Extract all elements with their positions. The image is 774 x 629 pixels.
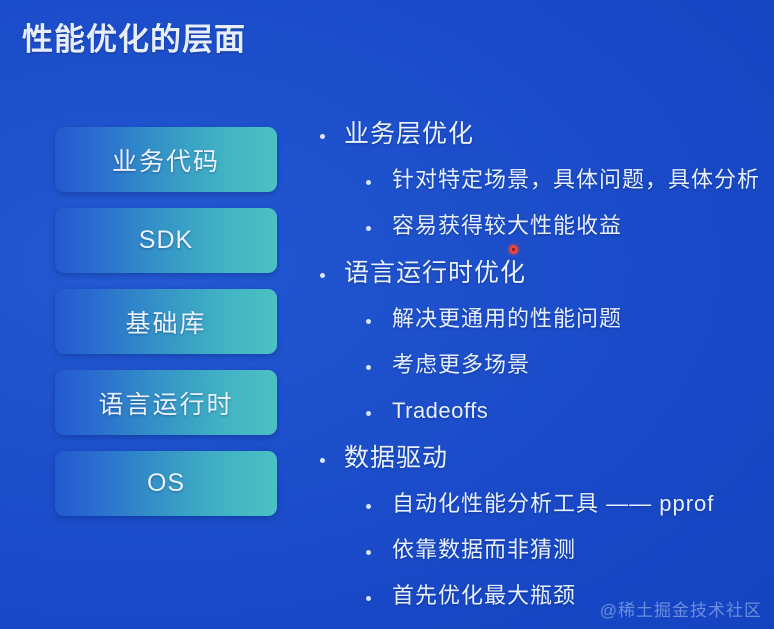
bullet-group: 语言运行时优化解决更通用的性能问题考虑更多场景Tradeoffs (316, 257, 774, 442)
bullet-level1: 业务层优化 (316, 118, 774, 165)
bullet-dot-icon (366, 596, 371, 601)
bullet-level2-label: Tradeoffs (392, 396, 488, 426)
bullet-dot-icon (366, 365, 371, 370)
layer-pill[interactable]: 业务代码 (55, 127, 277, 192)
bullet-level2: 容易获得较大性能收益 (316, 211, 774, 257)
layer-pill-label: 语言运行时 (98, 385, 233, 421)
layer-pill-label: 业务代码 (112, 142, 220, 178)
cursor-pointer (509, 245, 518, 254)
bullet-level2: 自动化性能分析工具 —— pprof (316, 489, 774, 535)
bullet-dot-icon (366, 226, 371, 231)
bullet-level2-label: 容易获得较大性能收益 (392, 211, 622, 241)
bullet-level2-label: 考虑更多场景 (392, 350, 530, 380)
bullet-level1: 数据驱动 (316, 442, 774, 489)
content-outline: 业务层优化针对特定场景，具体问题，具体分析容易获得较大性能收益语言运行时优化解决… (316, 118, 774, 629)
bullet-dot-icon (366, 550, 371, 555)
watermark: @稀土掘金技术社区 (600, 596, 762, 621)
bullet-group: 业务层优化针对特定场景，具体问题，具体分析容易获得较大性能收益 (316, 118, 774, 257)
bullet-level2: 依靠数据而非猜测 (316, 535, 774, 581)
page-title: 性能优化的层面 (22, 14, 246, 59)
bullet-dot-icon (366, 319, 371, 324)
bullet-level1-label: 数据驱动 (344, 442, 448, 474)
bullet-level2: 考虑更多场景 (316, 350, 774, 396)
bullet-level2: 解决更通用的性能问题 (316, 304, 774, 350)
bullet-level2-label: 自动化性能分析工具 —— pprof (392, 489, 714, 519)
bullet-level2-label: 首先优化最大瓶颈 (392, 581, 576, 611)
slide-canvas: 性能优化的层面 业务代码SDK基础库语言运行时OS 业务层优化针对特定场景，具体… (0, 0, 774, 629)
layer-pill-label: 基础库 (125, 304, 206, 340)
layer-pill[interactable]: SDK (55, 208, 277, 273)
bullet-level2-label: 依靠数据而非猜测 (392, 535, 576, 565)
bullet-level1-label: 语言运行时优化 (344, 257, 526, 289)
bullet-dot-icon (366, 180, 371, 185)
bullet-level2: Tradeoffs (316, 396, 774, 442)
bullet-level2-label: 解决更通用的性能问题 (392, 304, 622, 334)
bullet-level2-label: 针对特定场景，具体问题，具体分析 (392, 165, 760, 195)
bullet-dot-icon (366, 411, 371, 416)
layer-pill[interactable]: OS (55, 451, 277, 516)
bullet-level2: 针对特定场景，具体问题，具体分析 (316, 165, 774, 211)
bullet-dot-icon (320, 273, 325, 278)
bullet-dot-icon (320, 458, 325, 463)
bullet-level1-label: 业务层优化 (344, 118, 474, 150)
bullet-dot-icon (366, 504, 371, 509)
bullet-level1: 语言运行时优化 (316, 257, 774, 304)
layer-pill[interactable]: 基础库 (55, 289, 277, 354)
layer-pill-label: SDK (139, 226, 193, 255)
layer-stack: 业务代码SDK基础库语言运行时OS (55, 127, 277, 516)
layer-pill[interactable]: 语言运行时 (55, 370, 277, 435)
layer-pill-label: OS (147, 469, 185, 498)
bullet-dot-icon (320, 134, 325, 139)
